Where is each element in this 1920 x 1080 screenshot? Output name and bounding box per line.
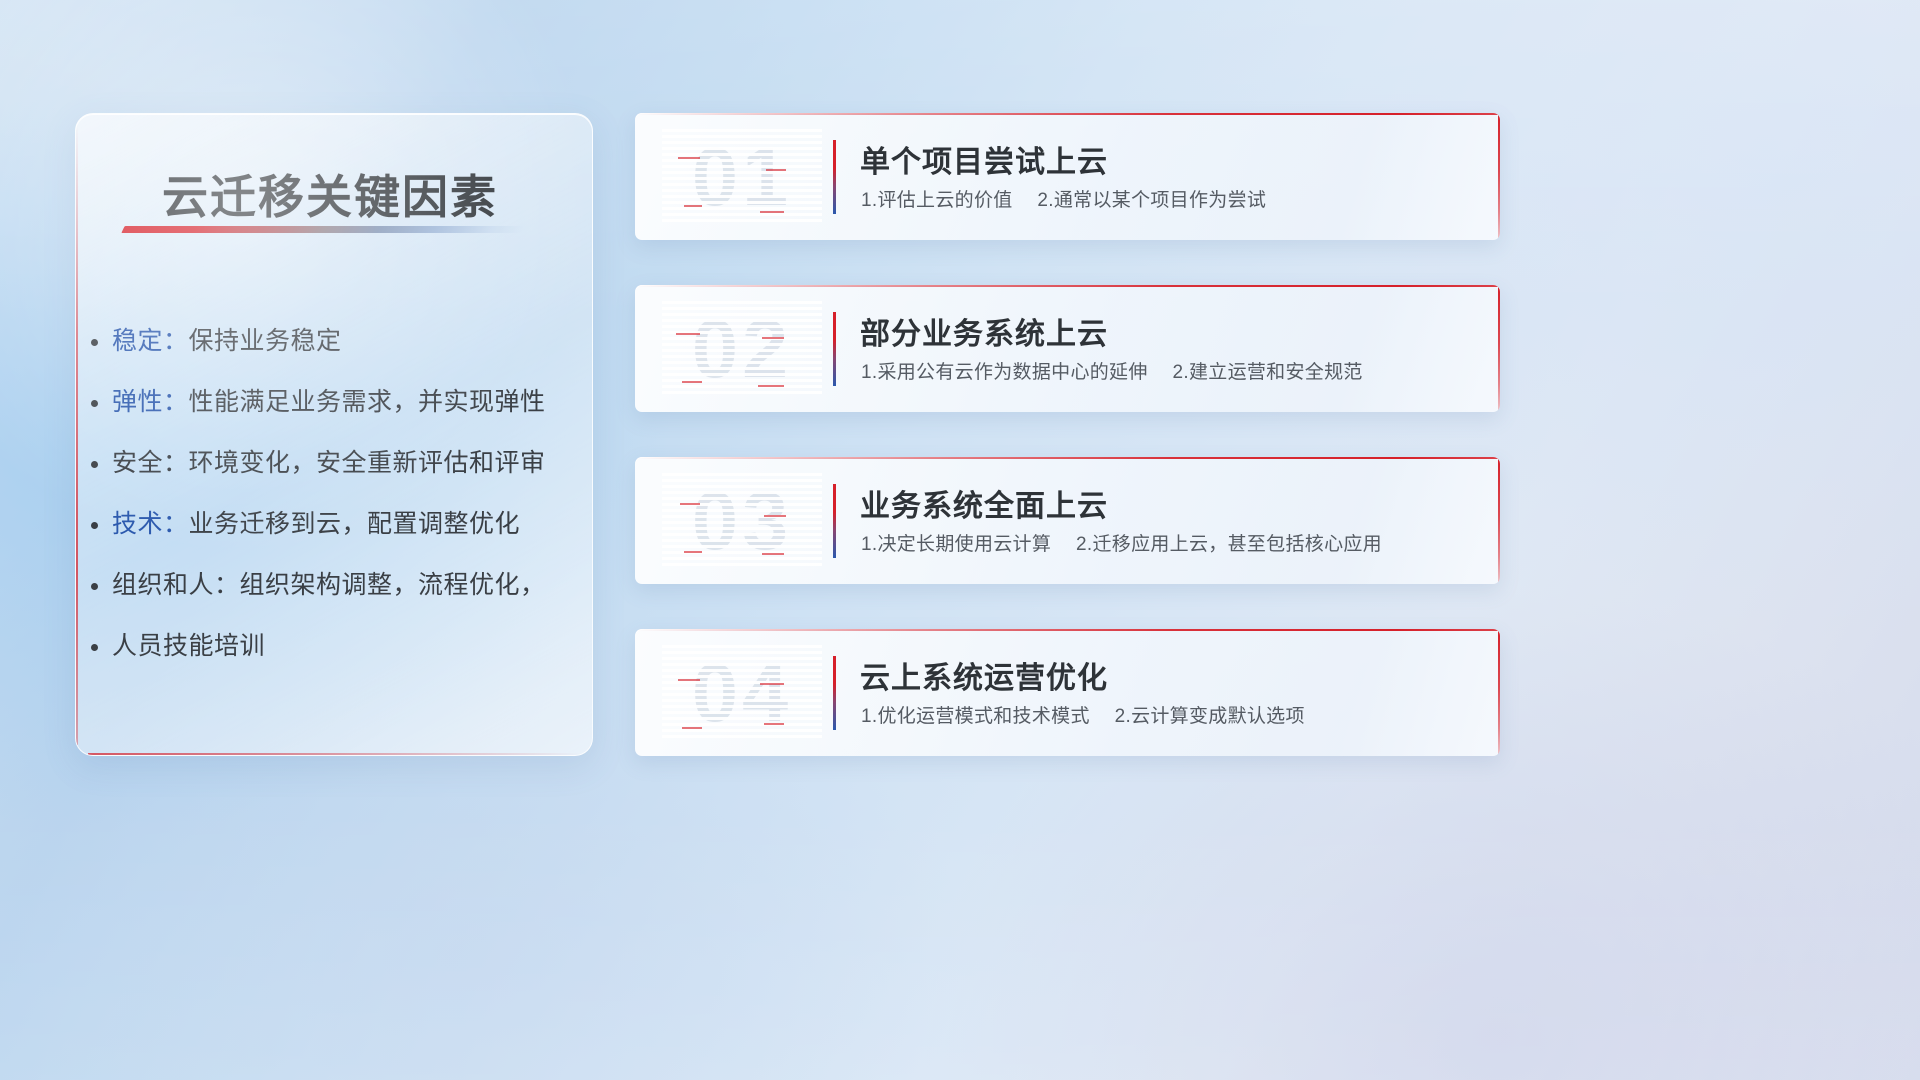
list-item: 弹性：性能满足业务需求，并实现弹性	[112, 372, 560, 433]
list-item-text: 环境变化，安全重新评估和评审	[189, 449, 546, 477]
stage-divider-bar	[833, 140, 836, 214]
list-item-text: 性能满足业务需求，并实现弹性	[189, 388, 546, 416]
card-top-accent-line	[635, 285, 1500, 287]
stage-card-02[interactable]: 02 部分业务系统上云 1.采用公有云作为数据中心的延伸 2.建立运营和安全规范	[635, 285, 1500, 412]
stage-subtitle: 1.决定长期使用云计算 2.迁移应用上云，甚至包括核心应用	[861, 529, 1382, 556]
list-item: 人员技能培训	[112, 616, 560, 677]
list-item-text: 保持业务稳定	[189, 327, 342, 355]
stage-number-ghost: 01	[662, 129, 822, 225]
card-bottom-accent-line	[88, 753, 580, 755]
card-top-accent-line	[635, 113, 1500, 115]
stage-subtitle: 1.评估上云的价值 2.通常以某个项目作为尝试	[861, 185, 1266, 212]
key-factors-card: 云迁移关键因素 稳定：保持业务稳定 弹性：性能满足业务需求，并实现弹性 安全：环…	[75, 113, 593, 756]
stage-number-ghost: 04	[662, 645, 822, 741]
card-top-accent-line	[635, 629, 1500, 631]
list-item-key: 组织和人：	[112, 571, 240, 599]
list-item-text: 组织架构调整，流程优化，	[240, 571, 546, 599]
stage-card-04[interactable]: 04 云上系统运营优化 1.优化运营模式和技术模式 2.云计算变成默认选项	[635, 629, 1500, 756]
list-item-key: 稳定：	[112, 327, 189, 355]
list-item-key: 弹性：	[112, 388, 189, 416]
card-right-accent-line	[1498, 113, 1500, 240]
stage-title: 部分业务系统上云	[860, 309, 1108, 353]
card-right-accent-line	[1498, 629, 1500, 756]
list-item-text: 业务迁移到云，配置调整优化	[189, 510, 521, 538]
stage-subtitle: 1.优化运营模式和技术模式 2.云计算变成默认选项	[861, 701, 1305, 728]
slide-canvas: 云迁移关键因素 稳定：保持业务稳定 弹性：性能满足业务需求，并实现弹性 安全：环…	[0, 0, 1920, 1080]
list-item-key: 技术：	[112, 510, 189, 538]
list-item: 组织和人：组织架构调整，流程优化，	[112, 555, 560, 616]
card-right-accent-line	[1498, 285, 1500, 412]
stage-subtitle: 1.采用公有云作为数据中心的延伸 2.建立运营和安全规范	[861, 357, 1363, 384]
key-factors-list: 稳定：保持业务稳定 弹性：性能满足业务需求，并实现弹性 安全：环境变化，安全重新…	[112, 311, 560, 677]
list-item-text: 人员技能培训	[112, 632, 265, 660]
stage-card-01[interactable]: 01 单个项目尝试上云 1.评估上云的价值 2.通常以某个项目作为尝试	[635, 113, 1500, 240]
stage-divider-bar	[833, 484, 836, 558]
card-left-accent-line	[76, 124, 78, 745]
list-item: 稳定：保持业务稳定	[112, 311, 560, 372]
stage-divider-bar	[833, 312, 836, 386]
stage-number-ghost: 02	[662, 301, 822, 397]
list-item: 安全：环境变化，安全重新评估和评审	[112, 433, 560, 494]
list-item: 技术：业务迁移到云，配置调整优化	[112, 494, 560, 555]
stage-card-03[interactable]: 03 业务系统全面上云 1.决定长期使用云计算 2.迁移应用上云，甚至包括核心应…	[635, 457, 1500, 584]
stage-title: 业务系统全面上云	[860, 481, 1108, 525]
stage-title: 云上系统运营优化	[860, 653, 1108, 697]
stage-title: 单个项目尝试上云	[860, 137, 1108, 181]
title-underline-gradient	[121, 226, 524, 233]
migration-stages-list: 01 单个项目尝试上云 1.评估上云的价值 2.通常以某个项目作为尝试 02	[635, 113, 1500, 758]
card-right-accent-line	[1498, 457, 1500, 584]
page-title: 云迁移关键因素	[162, 161, 498, 227]
stage-number-ghost: 03	[662, 473, 822, 569]
card-top-accent-line	[635, 457, 1500, 459]
list-item-key: 安全：	[112, 449, 189, 477]
stage-divider-bar	[833, 656, 836, 730]
